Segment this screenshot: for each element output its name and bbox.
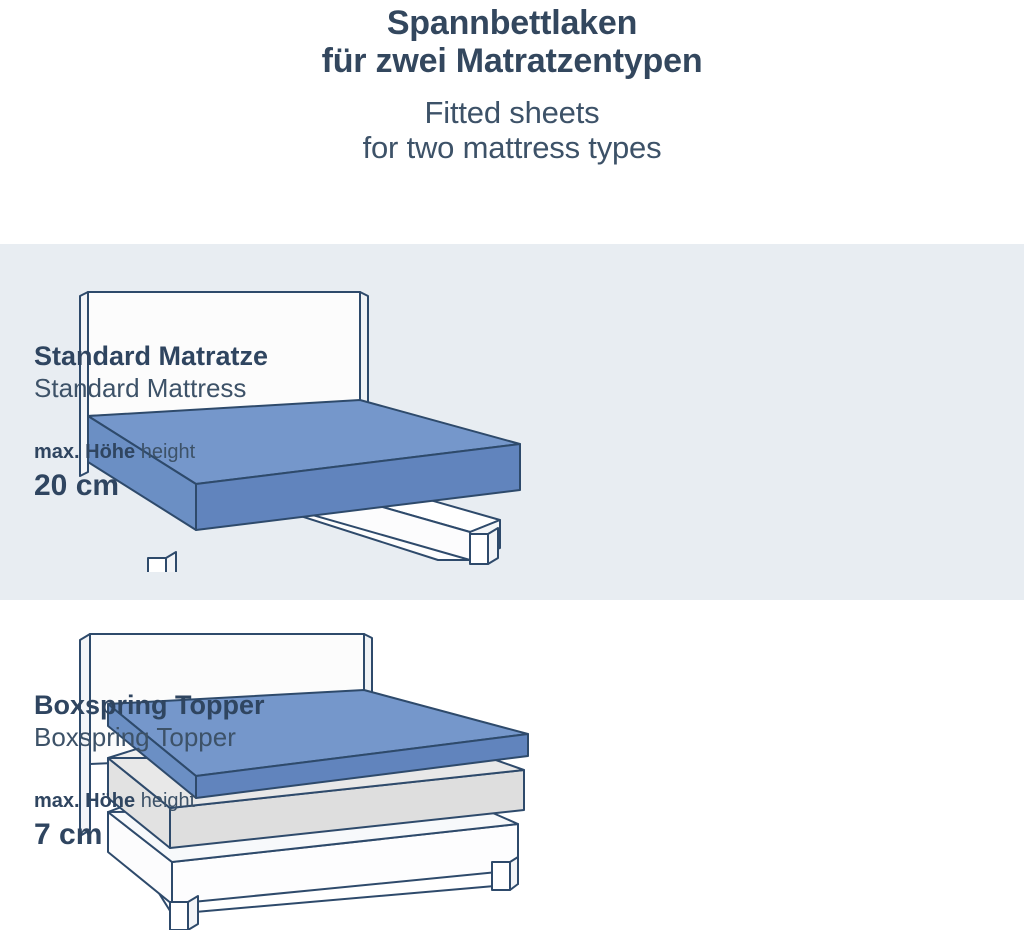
standard-height-label-de: max. Höhe bbox=[34, 441, 135, 463]
standard-mattress-info: Standard Matratze Standard Mattress max.… bbox=[17, 340, 1024, 505]
section-standard-mattress: Standard Matratze Standard Mattress max.… bbox=[0, 244, 1024, 600]
boxspring-height-label-de: max. Höhe bbox=[34, 790, 135, 812]
page-header: Spannbettlaken für zwei Matratzentypen F… bbox=[0, 0, 1024, 165]
boxspring-height-label: max. Höhe height bbox=[34, 789, 1024, 814]
boxspring-title-en: Boxspring Topper bbox=[34, 722, 1024, 754]
boxspring-leg-left bbox=[170, 902, 188, 930]
bed-leg-front-left bbox=[148, 558, 166, 572]
title-en-line1: Fitted sheets bbox=[0, 95, 1024, 130]
standard-title-en: Standard Mattress bbox=[34, 373, 1024, 405]
section-boxspring-topper: Boxspring Topper Boxspring Topper max. H… bbox=[0, 612, 1024, 930]
boxspring-height-label-en: height bbox=[141, 790, 196, 812]
boxspring-height-value: 7 cm bbox=[34, 817, 1024, 853]
boxspring-title-de: Boxspring Topper bbox=[34, 689, 1024, 722]
boxspring-topper-info: Boxspring Topper Boxspring Topper max. H… bbox=[17, 689, 1024, 854]
bed-leg-front-right bbox=[470, 534, 488, 564]
standard-height-label-en: height bbox=[141, 441, 196, 463]
standard-title-de: Standard Matratze bbox=[34, 340, 1024, 373]
standard-height-label: max. Höhe height bbox=[34, 440, 1024, 465]
title-de-line2: für zwei Matratzentypen bbox=[0, 42, 1024, 80]
boxspring-leg-right bbox=[492, 862, 510, 890]
title-en-line2: for two mattress types bbox=[0, 130, 1024, 165]
title-de-line1: Spannbettlaken bbox=[0, 4, 1024, 42]
standard-height-value: 20 cm bbox=[34, 468, 1024, 504]
